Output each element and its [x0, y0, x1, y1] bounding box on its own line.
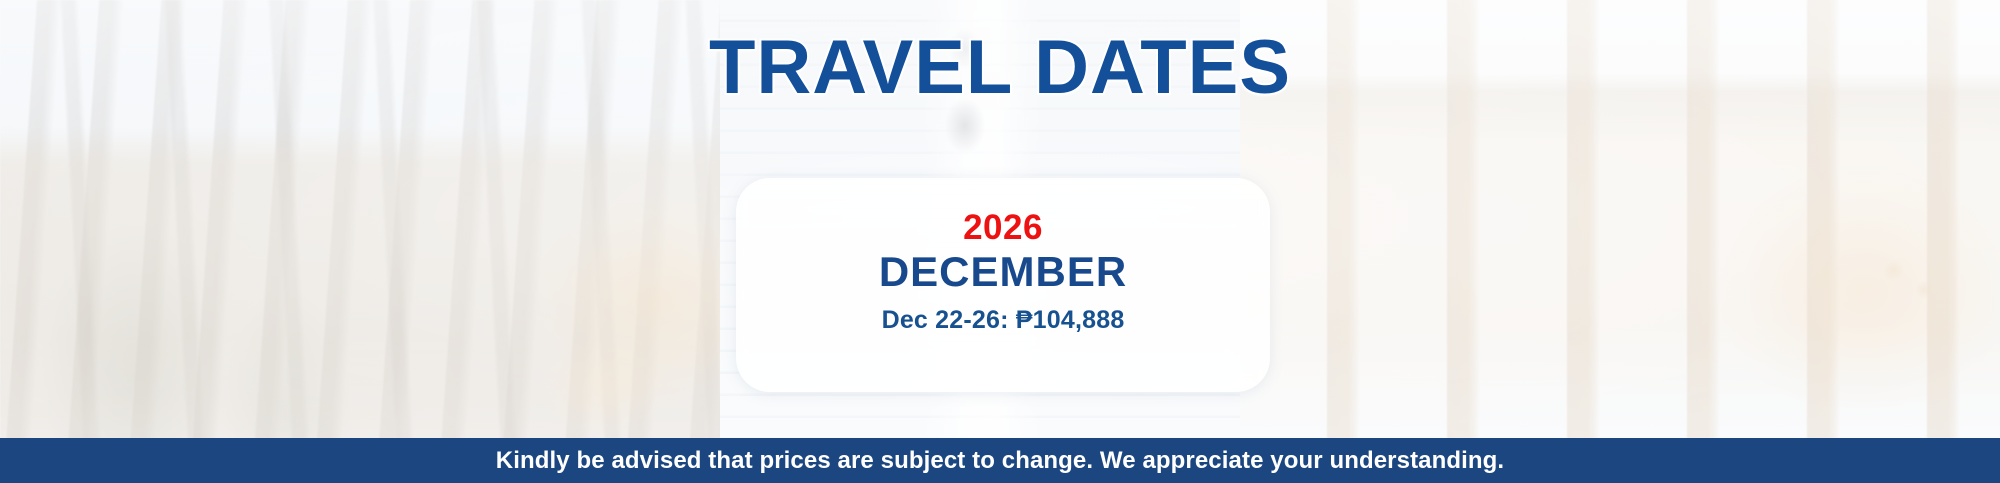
travel-year: 2026	[736, 210, 1270, 247]
travel-dates-banner: TRAVEL DATES 2026 DECEMBER Dec 22-26: ₱1…	[0, 0, 2000, 483]
travel-date-card-content: 2026 DECEMBER Dec 22-26: ₱104,888	[736, 210, 1270, 335]
travel-month: DECEMBER	[736, 248, 1270, 295]
travel-date-card: 2026 DECEMBER Dec 22-26: ₱104,888	[736, 178, 1270, 392]
disclaimer-bar: Kindly be advised that prices are subjec…	[0, 438, 2000, 483]
disclaimer-text: Kindly be advised that prices are subjec…	[496, 447, 1504, 475]
page-title: TRAVEL DATES	[0, 30, 2000, 106]
travel-price-line: Dec 22-26: ₱104,888	[736, 305, 1270, 335]
